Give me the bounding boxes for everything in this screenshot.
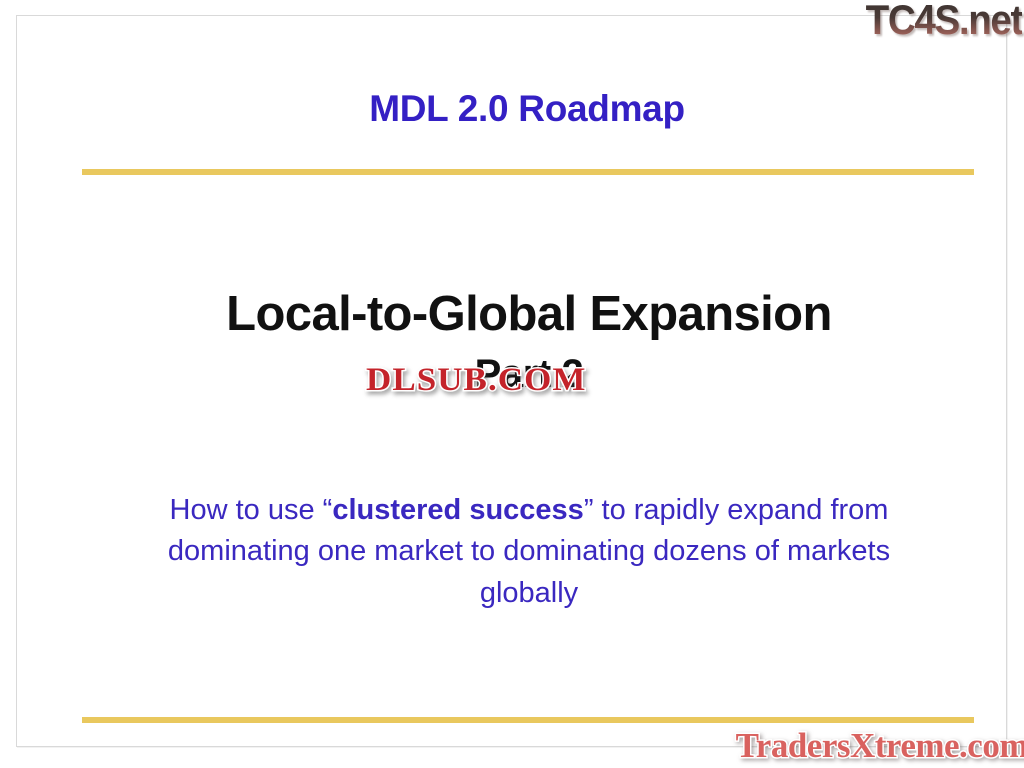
divider-bottom xyxy=(82,717,974,723)
watermark-tc4s: TC4S.net xyxy=(866,0,1022,44)
watermark-tradersxtreme: TradersXtreme.com xyxy=(736,726,1024,766)
slide-root: MDL 2.0 Roadmap Local-to-Global Expansio… xyxy=(0,0,1024,768)
main-heading: Local-to-Global Expansion xyxy=(57,286,1001,344)
divider-top xyxy=(82,169,974,175)
watermark-dlsub: DLSUB.COM xyxy=(366,362,586,399)
body-emphasis: clustered success xyxy=(332,494,583,526)
body-lead: How to use “ xyxy=(170,494,333,526)
body-paragraph: How to use “clustered success” to rapidl… xyxy=(147,490,911,614)
page-title: MDL 2.0 Roadmap xyxy=(77,88,977,130)
